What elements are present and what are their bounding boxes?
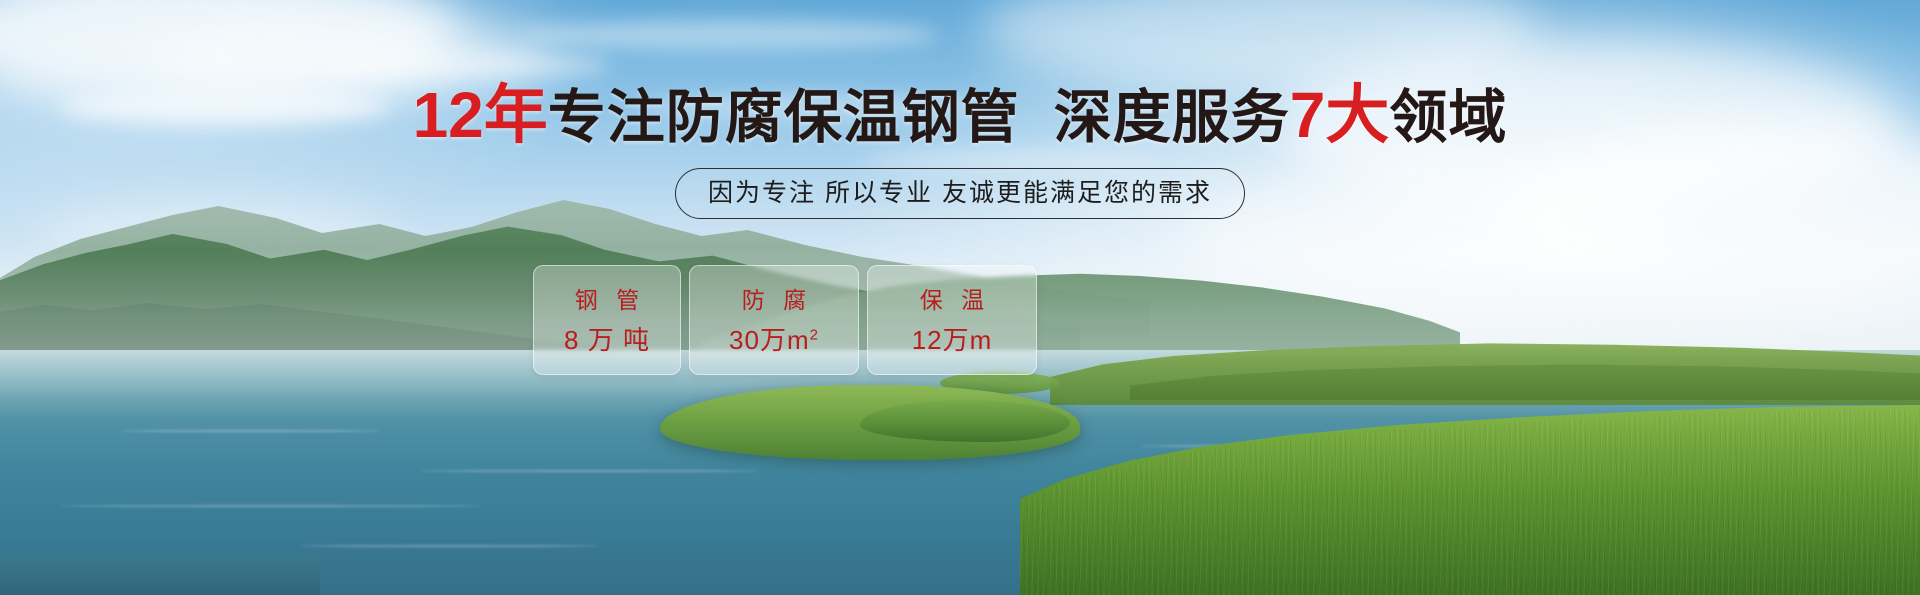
headline-years: 12年 (413, 79, 548, 151)
cloud-shape (520, 20, 940, 50)
water-ripple (60, 505, 480, 507)
headline-main: 专注防腐保温钢管 (548, 85, 1020, 150)
stat-label: 钢 管 (569, 285, 645, 315)
stat-card-steel-pipe[interactable]: 钢 管 8 万 吨 (533, 265, 681, 375)
stat-label: 防 腐 (736, 285, 812, 315)
water-ripple (420, 470, 760, 472)
stat-value: 30万m2 (729, 325, 819, 355)
cloud-shape (860, 150, 1160, 170)
stat-card-group: 钢 管 8 万 吨 防 腐 30万m2 保 温 12万m (533, 265, 1037, 375)
banner-headline: 12年专注防腐保温钢管深度服务7大领域 (0, 82, 1920, 151)
stat-value: 12万m (912, 325, 993, 355)
water-ripple (120, 430, 380, 432)
headline-seven: 7大 (1290, 79, 1390, 151)
subtitle-container: 因为专注 所以专业 友诚更能满足您的需求 (0, 168, 1920, 219)
stat-card-anticorrosion[interactable]: 防 腐 30万m2 (689, 265, 859, 375)
shoreline (0, 555, 320, 595)
island-front (860, 400, 1070, 442)
cloud-shape (330, 52, 610, 78)
stat-card-insulation[interactable]: 保 温 12万m (867, 265, 1037, 375)
water-ripple (300, 545, 600, 547)
stat-value-text: 30万m (729, 325, 810, 355)
banner-subtitle: 因为专注 所以专业 友诚更能满足您的需求 (675, 168, 1245, 219)
hero-banner: 12年专注防腐保温钢管深度服务7大领域 因为专注 所以专业 友诚更能满足您的需求… (0, 0, 1920, 595)
headline-service: 深度服务 (1054, 85, 1290, 150)
headline-fields: 领域 (1389, 85, 1507, 150)
stat-value-superscript: 2 (810, 326, 819, 343)
stat-label: 保 温 (914, 285, 990, 315)
stat-value: 8 万 吨 (564, 325, 650, 355)
